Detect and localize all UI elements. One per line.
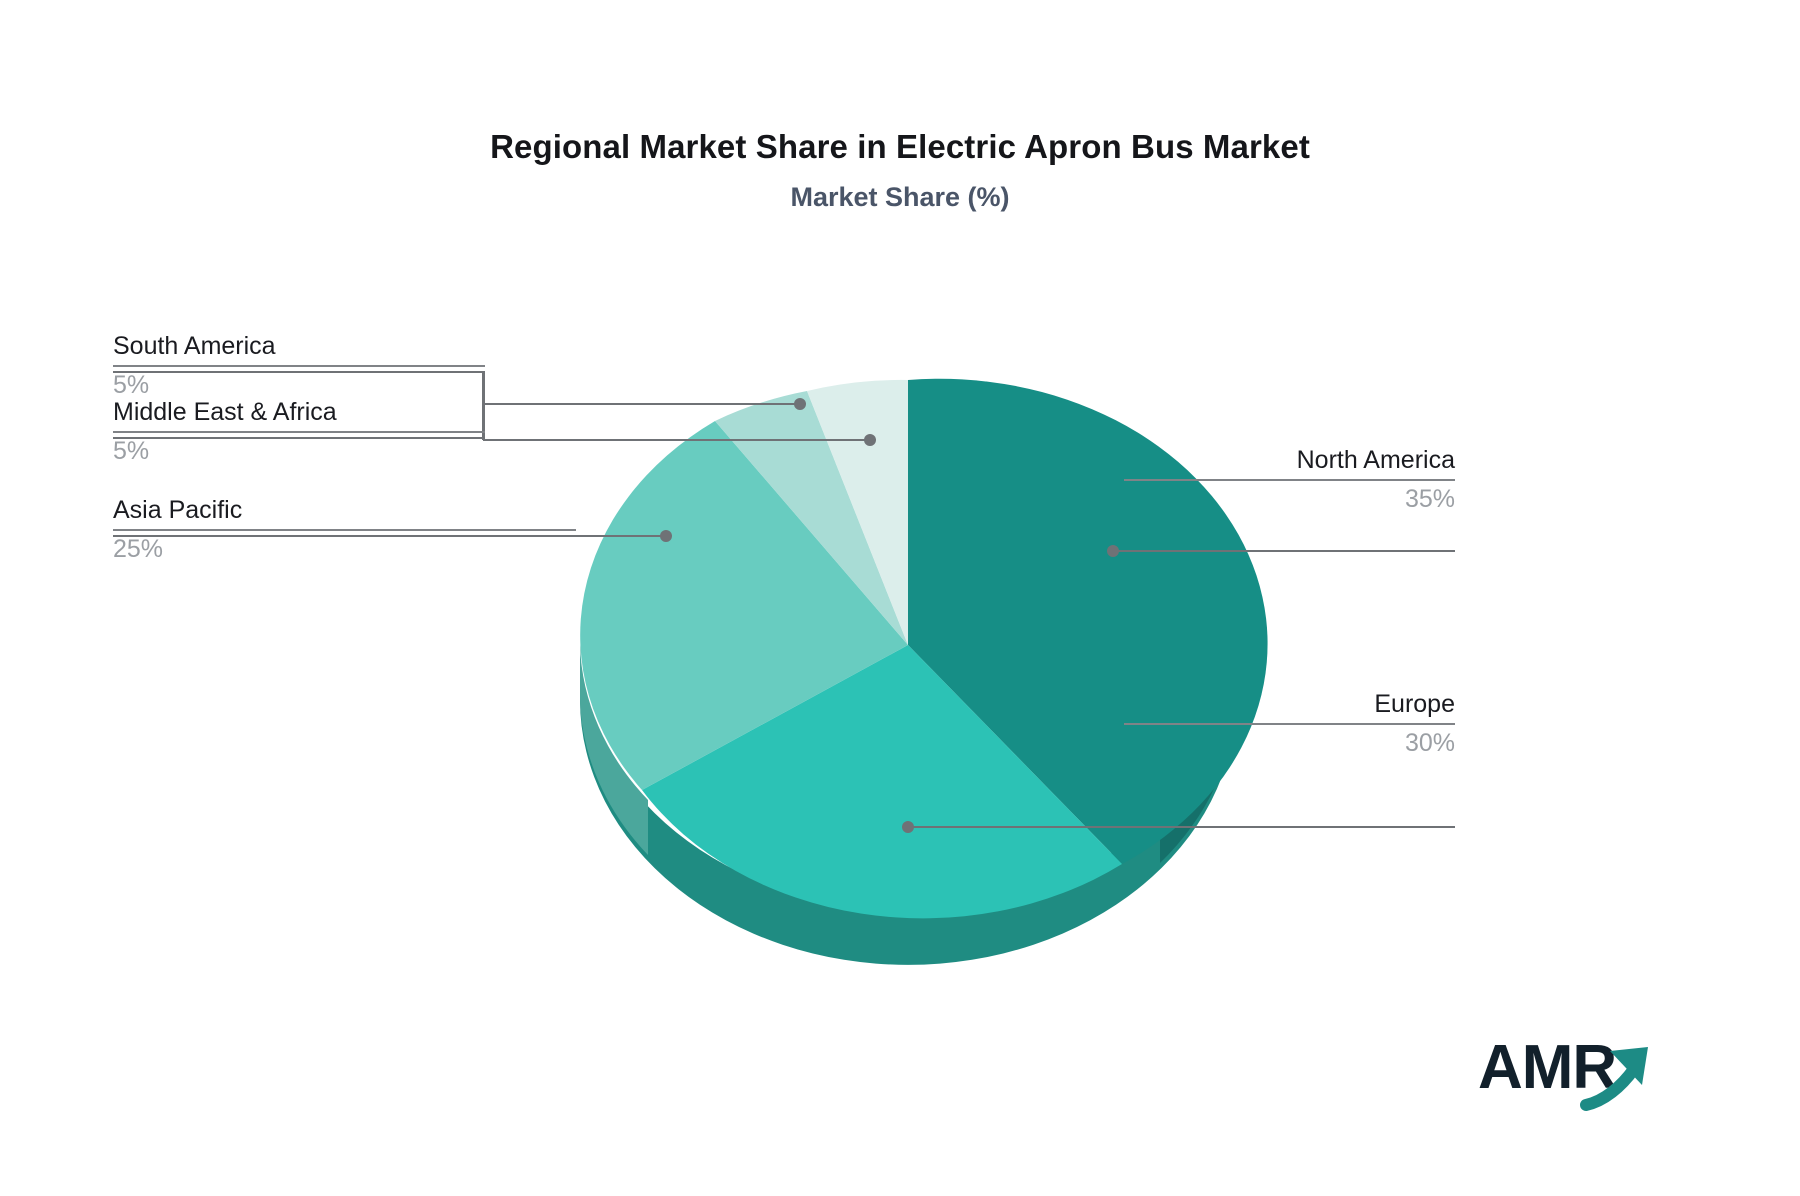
callout-rule-europe bbox=[1124, 723, 1455, 725]
callout-label-north-america: North America bbox=[1124, 444, 1455, 476]
callout-europe: Europe 30% bbox=[1124, 688, 1455, 759]
callout-middle-east-africa: Middle East & Africa 5% bbox=[113, 396, 485, 467]
callout-label-middle-east-africa: Middle East & Africa bbox=[113, 396, 485, 428]
callout-asia-pacific: Asia Pacific 25% bbox=[113, 494, 576, 565]
callout-rule-middle-east-africa bbox=[113, 431, 485, 433]
amr-logo: AMR bbox=[1478, 1035, 1678, 1113]
growth-arrow-icon bbox=[1478, 1035, 1678, 1113]
callout-value-europe: 30% bbox=[1124, 727, 1455, 759]
leader-dot-north-america bbox=[1107, 545, 1119, 557]
callout-rule-north-america bbox=[1124, 479, 1455, 481]
leader-dot-middle-east-africa bbox=[794, 398, 806, 410]
callout-label-asia-pacific: Asia Pacific bbox=[113, 494, 576, 526]
chart-canvas: Regional Market Share in Electric Apron … bbox=[0, 0, 1800, 1196]
callout-rule-asia-pacific bbox=[113, 529, 576, 531]
callout-value-asia-pacific: 25% bbox=[113, 533, 576, 565]
callout-value-north-america: 35% bbox=[1124, 483, 1455, 515]
callout-south-america: South America 5% bbox=[113, 330, 485, 401]
callout-label-south-america: South America bbox=[113, 330, 485, 362]
callout-value-middle-east-africa: 5% bbox=[113, 435, 485, 467]
callout-rule-south-america bbox=[113, 365, 485, 367]
leader-dot-south-america bbox=[864, 434, 876, 446]
callout-label-europe: Europe bbox=[1124, 688, 1455, 720]
pie-chart-graphic bbox=[0, 0, 1800, 1196]
leader-dot-asia-pacific bbox=[660, 530, 672, 542]
callout-north-america: North America 35% bbox=[1124, 444, 1455, 515]
leader-dot-europe bbox=[902, 821, 914, 833]
